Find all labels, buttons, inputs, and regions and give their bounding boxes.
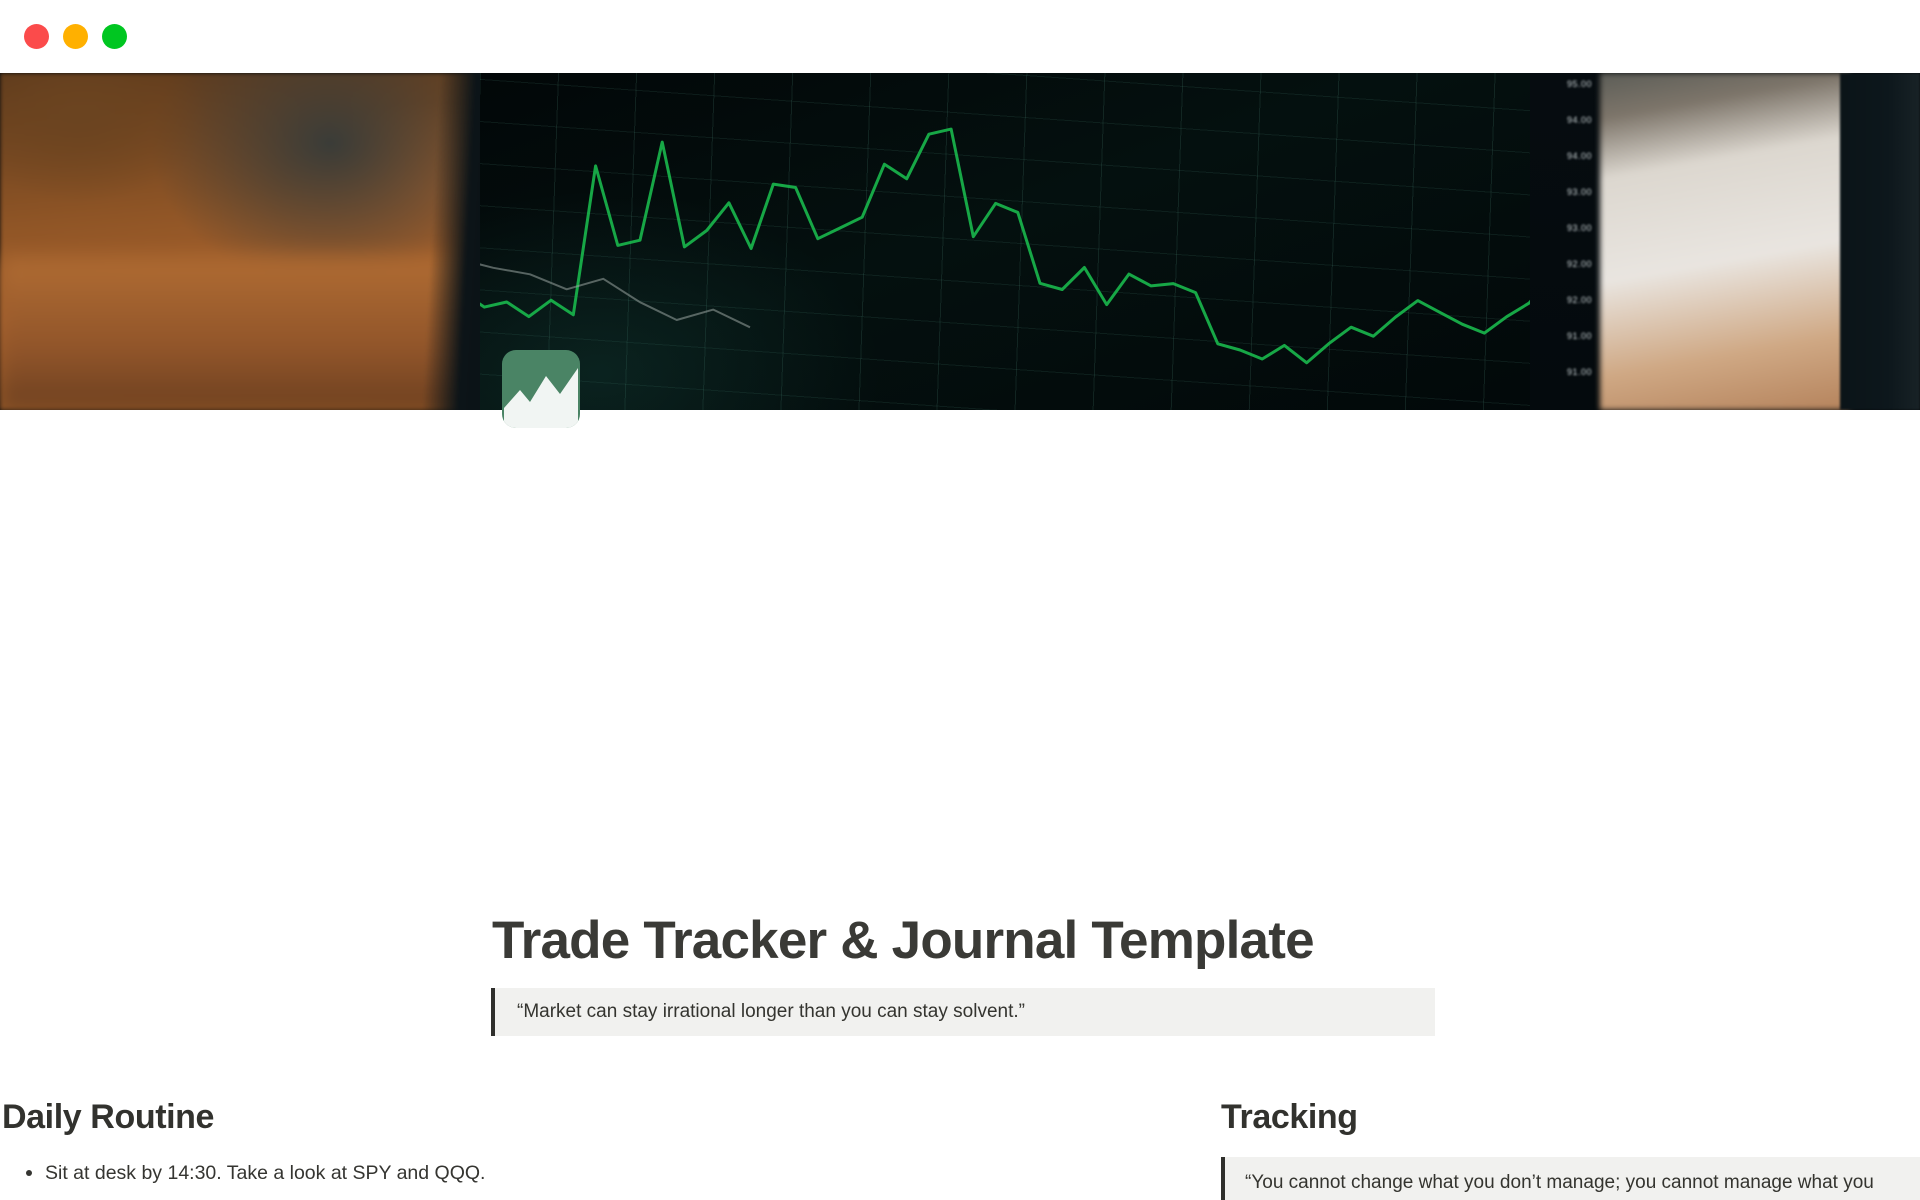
cover-paper-blur xyxy=(1600,73,1850,410)
window-zoom-button[interactable] xyxy=(102,24,127,49)
window-minimize-button[interactable] xyxy=(63,24,88,49)
hero-quote-block: “Market can stay irrational longer than … xyxy=(491,988,1435,1036)
axis-tick-label: 95.00 xyxy=(1567,79,1592,89)
axis-tick-label: 93.00 xyxy=(1567,223,1592,233)
axis-tick-label: 91.00 xyxy=(1567,331,1592,341)
tracking-quote-block: “You cannot change what you don’t manage… xyxy=(1221,1157,1920,1200)
daily-routine-heading: Daily Routine xyxy=(0,1098,1190,1137)
page-cover-image: 95.0094.0094.0093.0093.0092.0092.0091.00… xyxy=(0,73,1920,410)
axis-tick-label: 92.00 xyxy=(1567,259,1592,269)
line-chart-icon xyxy=(502,350,580,428)
tracking-column: Tracking “You cannot change what you don… xyxy=(1221,1098,1920,1200)
window-close-button[interactable] xyxy=(24,24,49,49)
monitor-right-bezel xyxy=(1840,73,1920,410)
axis-tick-label: 93.00 xyxy=(1567,187,1592,197)
daily-routine-item: Sit at desk by 14:30. Take a look at SPY… xyxy=(0,1157,1130,1189)
hero-quote-text: “Market can stay irrational longer than … xyxy=(517,1001,1025,1022)
tracking-heading: Tracking xyxy=(1221,1098,1920,1137)
page-icon[interactable] xyxy=(502,350,580,428)
tracking-quote-text: “You cannot change what you don’t manage… xyxy=(1245,1168,1903,1200)
window-titlebar xyxy=(0,0,1920,73)
axis-tick-label: 94.00 xyxy=(1567,115,1592,125)
axis-tick-label: 94.00 xyxy=(1567,151,1592,161)
daily-routine-column: Daily Routine Sit at desk by 14:30. Take… xyxy=(0,1098,1190,1200)
chart-series-price xyxy=(480,129,1600,363)
axis-tick-label: 91.00 xyxy=(1567,367,1592,377)
chart-price-axis: 95.0094.0094.0093.0093.0092.0092.0091.00… xyxy=(1530,73,1600,410)
daily-routine-list: Sit at desk by 14:30. Take a look at SPY… xyxy=(0,1157,1190,1200)
axis-tick-label: 92.00 xyxy=(1567,295,1592,305)
cover-stock-chart xyxy=(480,73,1600,410)
page-title: Trade Tracker & Journal Template xyxy=(492,910,1314,971)
chart-series-secondary xyxy=(480,252,750,327)
